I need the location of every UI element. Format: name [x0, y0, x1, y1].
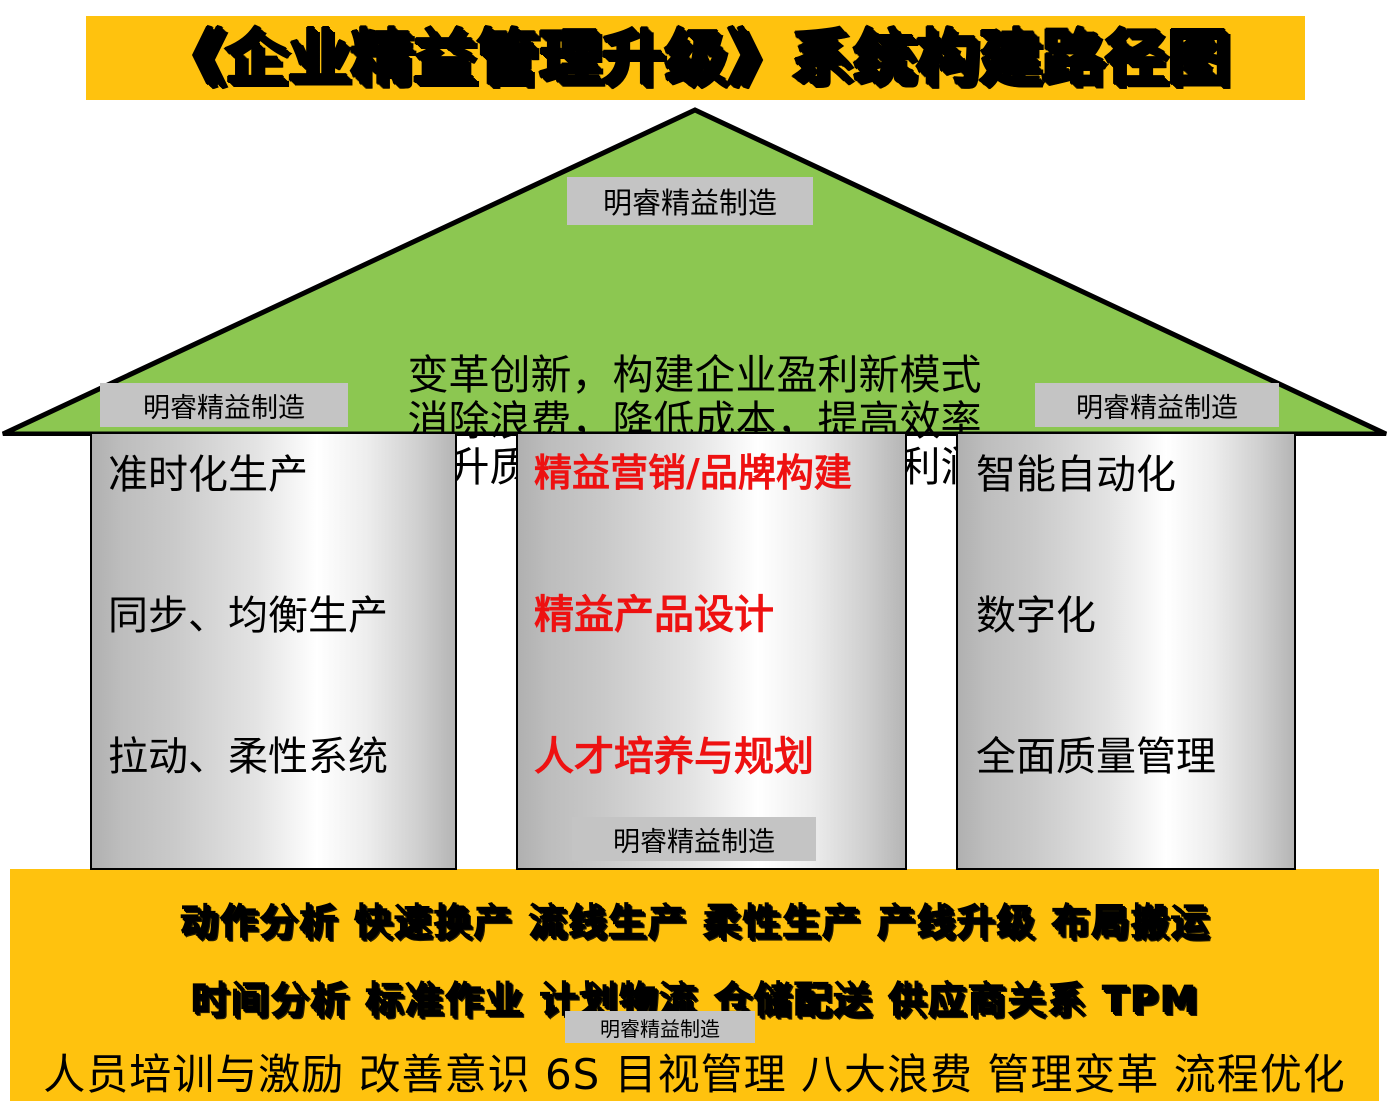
pillar-left-item-3: 拉动、柔性系统	[92, 734, 455, 780]
watermark-pillar-middle: 明睿精益制造	[572, 817, 816, 861]
watermark-pillar-left: 明睿精益制造	[100, 383, 348, 427]
title-banner: 《企业精益管理升级》系统构建路径图	[86, 16, 1305, 100]
pillar-right-item-3: 全面质量管理	[958, 734, 1294, 780]
pillar-middle-item-1: 精益营销/品牌构建	[518, 452, 905, 496]
pillar-left-item-2: 同步、均衡生产	[92, 593, 455, 639]
pillar-middle-items: 精益营销/品牌构建 精益产品设计 人才培养与规划	[518, 434, 905, 780]
pillar-left: 准时化生产 同步、均衡生产 拉动、柔性系统	[90, 432, 457, 870]
watermark-roof: 明睿精益制造	[567, 177, 813, 225]
pillar-left-item-1: 准时化生产	[92, 452, 455, 498]
foundation-row-3: 人员培训与激励 改善意识 6S 目视管理 八大浪费 管理变革 流程优化	[10, 1041, 1379, 1102]
pillar-right: 智能自动化 数字化 全面质量管理	[956, 432, 1296, 870]
foundation-row-1: 动作分析 快速换产 流线生产 柔性生产 产线升级 布局搬运	[0, 891, 1389, 945]
pillar-right-items: 智能自动化 数字化 全面质量管理	[958, 434, 1294, 780]
pillar-right-item-2: 数字化	[958, 593, 1294, 639]
watermark-pillar-right: 明睿精益制造	[1035, 383, 1279, 427]
watermark-foundation: 明睿精益制造	[565, 1011, 755, 1043]
page-title: 《企业精益管理升级》系统构建路径图	[161, 28, 1229, 88]
foundation-base: 动作分析 快速换产 流线生产 柔性生产 产线升级 布局搬运 时间分析 标准作业 …	[10, 869, 1379, 1101]
pillar-right-item-1: 智能自动化	[958, 452, 1294, 498]
pillar-middle: 精益营销/品牌构建 精益产品设计 人才培养与规划	[516, 432, 907, 870]
pillar-left-items: 准时化生产 同步、均衡生产 拉动、柔性系统	[92, 434, 455, 780]
pillar-middle-item-2: 精益产品设计	[518, 592, 905, 638]
pillar-middle-item-3: 人才培养与规划	[518, 734, 905, 780]
